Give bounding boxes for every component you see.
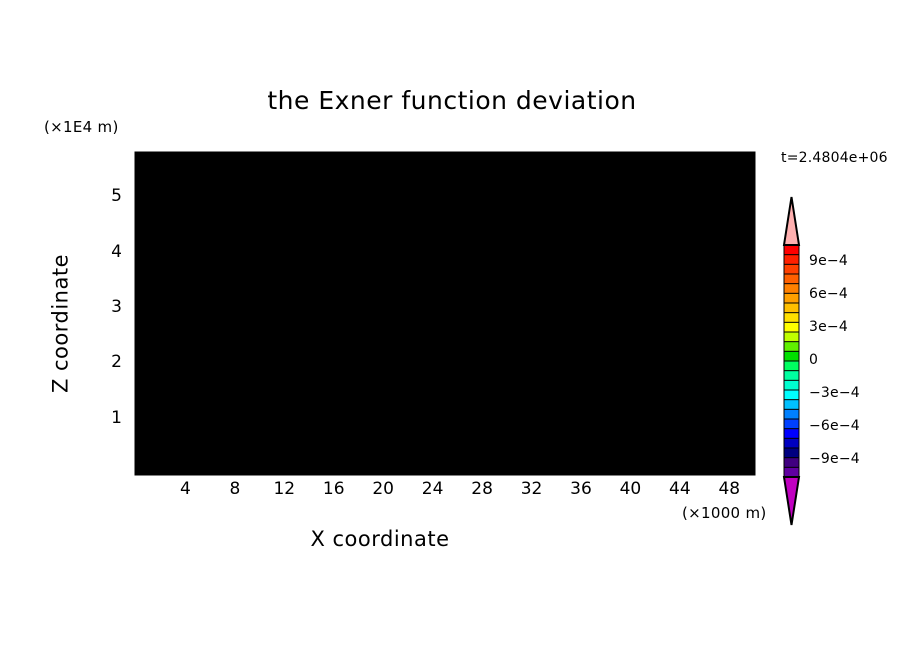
colorbar-tick-label: −9e−4 [809,452,860,466]
colorbar-tick-label: 3e−4 [809,320,848,334]
colorbar-tick-label: 6e−4 [809,287,848,301]
y-tick-label: 3 [88,299,122,316]
y-tick-label: 4 [88,244,122,261]
colorbar [784,197,799,525]
x-tick-label: 24 [413,481,453,498]
x-tick-label: 48 [709,481,749,498]
colorbar-tick-label: 9e−4 [809,254,848,268]
x-tick-label: 16 [314,481,354,498]
x-axis-unit-label: (×1000 m) [682,506,767,521]
x-axis-title: X coordinate [0,529,760,550]
colorbar-tick-label: −3e−4 [809,386,860,400]
z-axis-unit-label: (×1E4 m) [44,120,119,135]
page-title: the Exner function deviation [0,88,904,113]
x-tick-label: 28 [462,481,502,498]
x-tick-label: 44 [660,481,700,498]
y-tick-label: 1 [88,410,122,427]
contour-field [136,153,755,475]
x-tick-label: 8 [215,481,255,498]
x-tick-label: 40 [610,481,650,498]
x-tick-label: 12 [264,481,304,498]
colorbar-tick-label: 0 [809,353,818,367]
y-tick-label: 2 [88,354,122,371]
y-axis-title: Z coordinate [51,224,72,424]
x-tick-label: 4 [165,481,205,498]
x-tick-label: 32 [512,481,552,498]
x-tick-label: 20 [363,481,403,498]
colorbar-tick-label: −6e−4 [809,419,860,433]
x-tick-label: 36 [561,481,601,498]
y-tick-label: 5 [88,188,122,205]
time-annotation: t=2.4804e+06 [781,151,888,165]
